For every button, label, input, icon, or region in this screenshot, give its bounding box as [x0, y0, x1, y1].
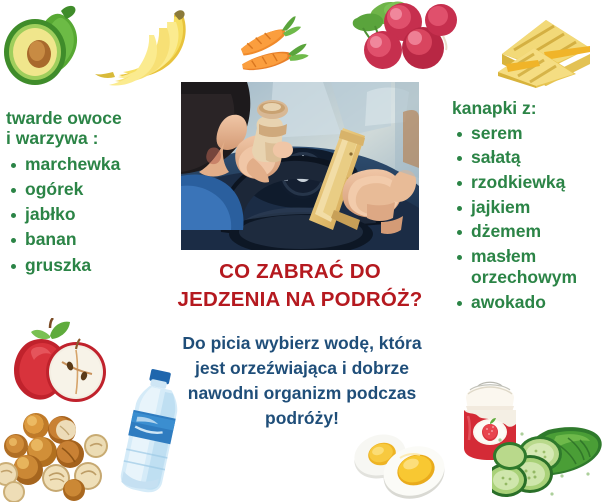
list-item-continuation: orzechowym — [452, 267, 605, 288]
left-food-list: twarde owoce i warzywa : marchewka ogóre… — [6, 108, 178, 275]
right-list-heading: kanapki z: — [452, 98, 605, 119]
list-item: serem — [452, 123, 605, 144]
hazelnuts-illustration — [0, 412, 122, 502]
left-list-items: marchewka ogórek jabłko banan gruszka — [6, 154, 178, 275]
page-title: CO ZABRAĆ DO JEDZENIA NA PODRÓŻ? — [150, 258, 450, 313]
driver-eating-photo — [181, 82, 419, 250]
radishes-illustration — [345, 0, 460, 82]
list-item: sałatą — [452, 147, 605, 168]
carrots-illustration — [228, 14, 324, 80]
page-title-line-2: JEDZENIA NA PODRÓŻ? — [150, 286, 450, 314]
right-list-items: serem sałatą rzodkiewką jajkiem dżemem m… — [452, 123, 605, 267]
list-item: jabłko — [6, 204, 178, 224]
list-item: ogórek — [6, 179, 178, 199]
apple-illustration — [6, 318, 110, 410]
right-food-list: kanapki z: serem sałatą rzodkiewką jajki… — [452, 98, 605, 313]
poster-canvas: twarde owoce i warzywa : marchewka ogóre… — [0, 0, 605, 504]
list-item: masłem — [452, 246, 605, 267]
page-title-line-1: CO ZABRAĆ DO — [150, 258, 450, 286]
water-bottle-illustration — [110, 364, 192, 504]
list-item: banan — [6, 229, 178, 249]
paragraph-line-1: Do picia wybierz wodę, która — [143, 331, 461, 356]
list-item: marchewka — [6, 154, 178, 174]
grilled-sandwich-illustration — [494, 6, 598, 88]
list-item: jajkiem — [452, 197, 605, 218]
left-list-heading: twarde owoce i warzywa : — [6, 108, 178, 149]
list-item: awokado — [452, 292, 605, 313]
bananas-illustration — [88, 6, 198, 88]
cucumber-illustration — [492, 418, 604, 504]
boiled-eggs-illustration — [342, 428, 452, 502]
right-list-items-tail: awokado — [452, 292, 605, 313]
list-item: rzodkiewką — [452, 172, 605, 193]
list-item: dżemem — [452, 221, 605, 242]
